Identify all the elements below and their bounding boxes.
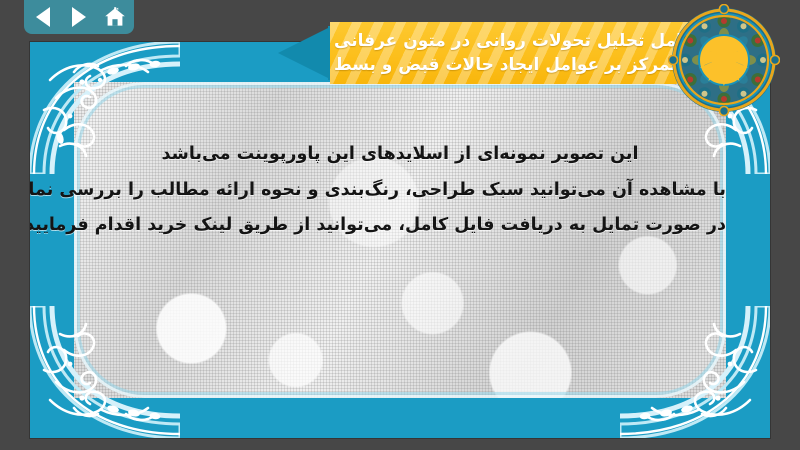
title-line-2: با تمرکز بر عوامل ایجاد حالات قبض و بسط	[334, 54, 695, 76]
body-line: با مشاهده آن می‌توانید سبک طراحی، رنگ‌بن…	[74, 173, 726, 209]
frame-band-bottom	[30, 398, 770, 438]
body-line: این تصویر نمونه‌ای از اسلایدهای این پاور…	[74, 137, 726, 173]
slide-title: کامل تحلیل تحولات روانی در متون عرفانی ب…	[334, 22, 680, 84]
navigation-bar	[24, 0, 134, 34]
forward-button[interactable]	[66, 4, 92, 30]
back-button[interactable]	[30, 4, 56, 30]
body-line: در صورت تمایل به دریافت فایل کامل، می‌تو…	[74, 208, 726, 244]
title-line-1: کامل تحلیل تحولات روانی در متون عرفانی	[334, 30, 692, 52]
banner-arrow-shape	[278, 26, 332, 80]
home-button[interactable]	[102, 4, 128, 30]
frame-band-left	[30, 42, 74, 438]
home-icon	[104, 7, 126, 27]
slide-body-text: این تصویر نمونه‌ای از اسلایدهای این پاور…	[74, 137, 726, 244]
slide-canvas: این تصویر نمونه‌ای از اسلایدهای این پاور…	[30, 42, 770, 438]
triangle-left-icon	[36, 7, 50, 27]
persian-medallion-icon	[668, 4, 780, 116]
triangle-right-icon	[72, 7, 86, 27]
